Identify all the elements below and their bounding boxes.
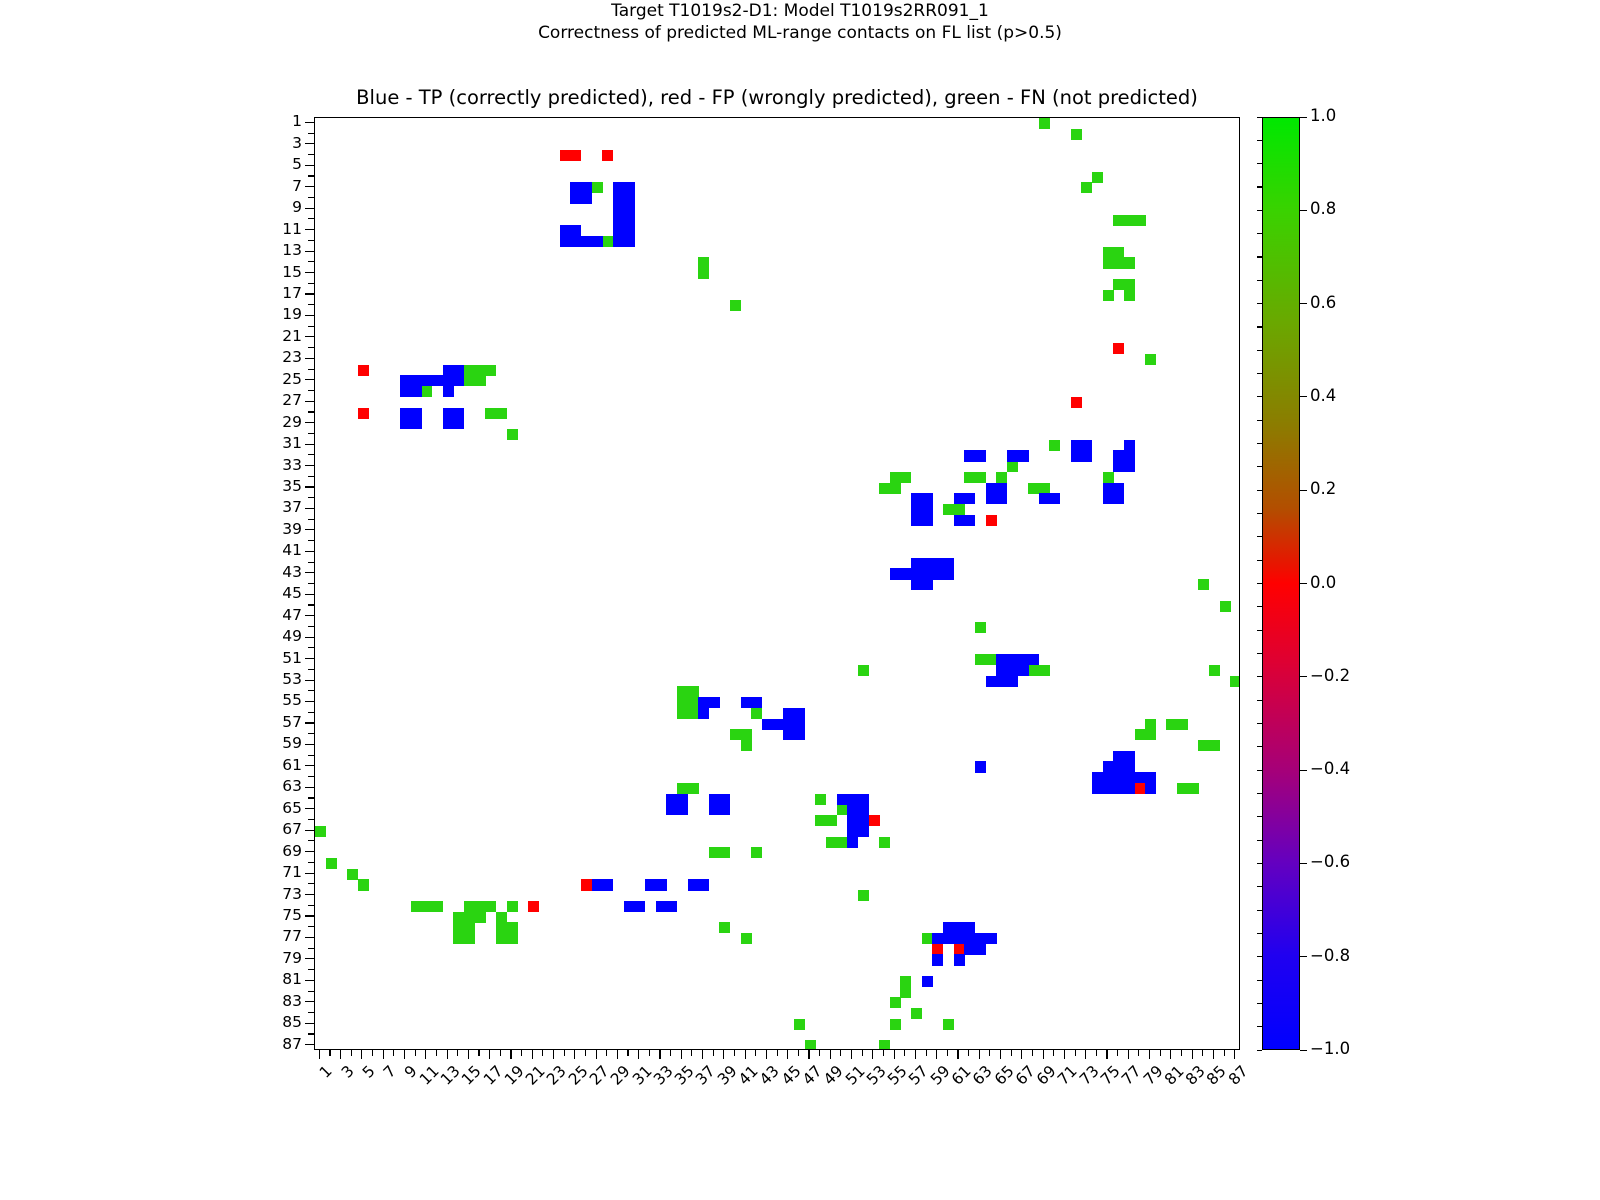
x-tick-label: 71 xyxy=(1054,1062,1081,1089)
contact-cell-tp xyxy=(677,804,688,815)
contact-cell-tp xyxy=(847,815,858,826)
contact-cell-tp xyxy=(453,408,464,419)
y-tick-mark xyxy=(305,315,314,316)
contact-cell-fn xyxy=(1166,719,1177,730)
contact-cell-tp xyxy=(624,901,635,912)
contact-cell-tp xyxy=(858,815,869,826)
contact-cell-fn xyxy=(922,933,933,944)
contact-cell-fn xyxy=(1188,783,1199,794)
x-tick-mark xyxy=(393,1050,394,1056)
x-tick-mark xyxy=(617,1050,618,1059)
contact-cell-fn xyxy=(975,622,986,633)
x-tick-mark xyxy=(670,1050,671,1056)
contact-cell-tp xyxy=(1124,761,1135,772)
contact-cell-tp xyxy=(932,954,943,965)
contact-cell-fn xyxy=(1103,472,1114,483)
y-tick-mark xyxy=(305,915,314,916)
contact-cell-fn xyxy=(315,826,326,837)
contact-cell-tp xyxy=(1113,450,1124,461)
contact-cell-tp xyxy=(613,204,624,215)
x-tick-label: 31 xyxy=(629,1062,656,1089)
y-tick-label: 69 xyxy=(234,842,302,860)
y-tick-mark xyxy=(305,701,314,702)
x-tick-label: 1 xyxy=(316,1062,336,1082)
contact-cell-tp xyxy=(400,386,411,397)
contact-cell-tp xyxy=(1007,450,1018,461)
y-tick-label: 3 xyxy=(234,134,302,152)
y-tick-mark xyxy=(305,186,314,187)
contact-cell-tp xyxy=(922,504,933,515)
contact-cell-tp xyxy=(613,236,624,247)
colorbar-minor-tick xyxy=(1257,583,1262,584)
x-tick-mark xyxy=(436,1050,437,1056)
contact-cell-fn xyxy=(1049,440,1060,451)
colorbar-minor-tick xyxy=(1257,816,1262,817)
contact-cell-tp xyxy=(911,558,922,569)
suptitle-line-1: Target T1019s2-D1: Model T1019s2RR091_1 xyxy=(0,0,1600,22)
y-tick-label: 75 xyxy=(234,906,302,924)
contact-cell-tp xyxy=(1124,461,1135,472)
colorbar-minor-tick xyxy=(1257,210,1262,211)
y-tick-mark xyxy=(305,336,314,337)
contact-cell-tp xyxy=(1113,772,1124,783)
y-tick-label: 17 xyxy=(234,284,302,302)
contact-cell-tp xyxy=(773,719,784,730)
contact-cell-fn xyxy=(475,912,486,923)
contact-cell-fn xyxy=(464,912,475,923)
contact-cell-fn xyxy=(1113,279,1124,290)
x-tick-mark xyxy=(489,1050,490,1059)
x-tick-label: 73 xyxy=(1076,1062,1103,1089)
colorbar-tick-mark xyxy=(1300,117,1307,118)
y-tick-mark xyxy=(305,401,314,402)
colorbar-tick-mark xyxy=(1300,303,1307,304)
x-tick-mark xyxy=(585,1050,586,1056)
y-tick-mark xyxy=(305,1023,314,1024)
contact-cell-fn xyxy=(879,1040,890,1050)
contact-cell-fn xyxy=(507,429,518,440)
contact-cell-tp xyxy=(911,504,922,515)
contact-cell-fn xyxy=(677,697,688,708)
x-tick-mark xyxy=(840,1050,841,1056)
contact-cell-tp xyxy=(666,804,677,815)
contact-cell-fn xyxy=(453,912,464,923)
contact-cell-fp xyxy=(602,150,613,161)
contact-cell-tp xyxy=(975,944,986,955)
colorbar-minor-tick xyxy=(1257,770,1262,771)
contact-cell-tp xyxy=(954,515,965,526)
contact-cell-fn xyxy=(1092,172,1103,183)
y-tick-label: 63 xyxy=(234,777,302,795)
contact-cell-tp xyxy=(986,483,997,494)
x-tick-mark xyxy=(979,1050,980,1059)
contact-cell-tp xyxy=(986,933,997,944)
contact-cell-tp xyxy=(592,879,603,890)
contact-cell-tp xyxy=(1028,654,1039,665)
contact-cell-tp xyxy=(847,837,858,848)
colorbar-tick-mark xyxy=(1300,956,1307,957)
contact-cell-fn xyxy=(421,386,432,397)
colorbar-minor-tick xyxy=(1257,490,1262,491)
y-tick-mark xyxy=(305,572,314,573)
contact-cell-fn xyxy=(730,729,741,740)
contact-cell-tp xyxy=(613,215,624,226)
figure-suptitle: Target T1019s2-D1: Model T1019s2RR091_1 … xyxy=(0,0,1600,44)
x-tick-label: 81 xyxy=(1161,1062,1188,1089)
colorbar-minor-tick xyxy=(1257,793,1262,794)
contact-cell-tp xyxy=(1113,493,1124,504)
x-tick-mark xyxy=(574,1050,575,1059)
contact-cell-tp xyxy=(432,375,443,386)
contact-cell-tp xyxy=(794,719,805,730)
x-tick-mark xyxy=(713,1050,714,1056)
contact-cell-tp xyxy=(922,579,933,590)
contact-cell-tp xyxy=(783,719,794,730)
x-tick-mark xyxy=(947,1050,948,1056)
x-tick-label: 37 xyxy=(693,1062,720,1089)
colorbar-minor-tick xyxy=(1257,840,1262,841)
contact-cell-fn xyxy=(815,794,826,805)
x-tick-mark xyxy=(798,1050,799,1056)
contact-cell-tp xyxy=(996,665,1007,676)
colorbar-minor-tick xyxy=(1257,443,1262,444)
x-tick-mark xyxy=(478,1050,479,1056)
contact-cell-fp xyxy=(528,901,539,912)
contact-cell-tp xyxy=(1007,654,1018,665)
contact-cell-fn xyxy=(879,837,890,848)
y-tick-mark xyxy=(305,444,314,445)
colorbar-tick-label: 0.8 xyxy=(1310,199,1336,218)
y-tick-label: 65 xyxy=(234,799,302,817)
x-tick-label: 75 xyxy=(1097,1062,1124,1089)
contact-cell-tp xyxy=(943,922,954,933)
contact-cell-tp xyxy=(1113,783,1124,794)
contact-cell-tp xyxy=(911,515,922,526)
contact-cell-tp xyxy=(1113,461,1124,472)
contact-cell-fn xyxy=(900,976,911,987)
y-tick-label: 31 xyxy=(234,434,302,452)
colorbar-minor-tick xyxy=(1257,513,1262,514)
colorbar-minor-tick xyxy=(1257,466,1262,467)
contact-cell-fn xyxy=(1113,215,1124,226)
contact-cell-fn xyxy=(475,901,486,912)
contact-cell-tp xyxy=(1103,772,1114,783)
contact-cell-tp xyxy=(751,697,762,708)
contact-map-plot[interactable] xyxy=(314,117,1240,1050)
x-tick-mark xyxy=(1085,1050,1086,1059)
x-tick-mark xyxy=(1096,1050,1097,1056)
contact-cell-fn xyxy=(496,408,507,419)
contact-cell-fn xyxy=(1113,257,1124,268)
contact-cell-fp xyxy=(986,515,997,526)
contact-cell-tp xyxy=(1103,493,1114,504)
contact-cell-tp xyxy=(741,697,752,708)
x-tick-label: 17 xyxy=(480,1062,507,1089)
contact-cell-tp xyxy=(624,182,635,193)
colorbar-minor-tick xyxy=(1257,723,1262,724)
y-tick-mark xyxy=(305,508,314,509)
colorbar-minor-tick xyxy=(1257,186,1262,187)
y-tick-label: 37 xyxy=(234,498,302,516)
x-tick-mark xyxy=(1170,1050,1171,1059)
y-tick-label: 25 xyxy=(234,370,302,388)
contact-cell-tp xyxy=(1017,665,1028,676)
contact-cell-tp xyxy=(932,568,943,579)
x-tick-mark xyxy=(968,1050,969,1056)
x-tick-label: 49 xyxy=(820,1062,847,1089)
contact-cell-fn xyxy=(1177,719,1188,730)
colorbar-tick-mark xyxy=(1300,770,1307,771)
colorbar-minor-tick xyxy=(1257,560,1262,561)
contact-cell-fn xyxy=(507,933,518,944)
x-tick-mark xyxy=(659,1050,660,1059)
y-tick-label: 19 xyxy=(234,305,302,323)
contact-cell-tp xyxy=(570,182,581,193)
x-tick-mark xyxy=(1106,1050,1107,1059)
contact-cell-tp xyxy=(900,568,911,579)
contact-cell-fn xyxy=(688,783,699,794)
colorbar-minor-tick xyxy=(1257,373,1262,374)
contact-cell-fn xyxy=(421,901,432,912)
y-tick-label: 51 xyxy=(234,649,302,667)
contact-cell-tp xyxy=(411,375,422,386)
y-tick-mark xyxy=(305,594,314,595)
contact-cell-fn xyxy=(688,708,699,719)
x-tick-label: 13 xyxy=(437,1062,464,1089)
x-tick-label: 53 xyxy=(863,1062,890,1089)
contact-cell-fn xyxy=(1230,676,1240,687)
contact-cell-fn xyxy=(507,922,518,933)
colorbar-minor-tick xyxy=(1257,746,1262,747)
x-tick-label: 83 xyxy=(1182,1062,1209,1089)
contact-cell-tp xyxy=(602,879,613,890)
contact-cell-fn xyxy=(464,901,475,912)
contact-cell-tp xyxy=(975,450,986,461)
contact-cell-tp xyxy=(975,933,986,944)
y-tick-mark xyxy=(305,873,314,874)
contact-cell-tp xyxy=(1081,450,1092,461)
colorbar[interactable] xyxy=(1262,117,1300,1050)
y-tick-label: 21 xyxy=(234,327,302,345)
colorbar-minor-tick xyxy=(1257,1050,1262,1051)
y-tick-mark xyxy=(305,1044,314,1045)
y-tick-mark xyxy=(305,165,314,166)
y-tick-mark xyxy=(305,358,314,359)
contact-cell-tp xyxy=(624,225,635,236)
colorbar-tick-label: −0.6 xyxy=(1310,852,1350,871)
y-tick-label: 81 xyxy=(234,970,302,988)
contact-cell-tp xyxy=(1145,783,1156,794)
axes-title-legend: Blue - TP (correctly predicted), red - F… xyxy=(314,86,1240,109)
y-tick-mark xyxy=(305,551,314,552)
contact-cell-fn xyxy=(805,1040,816,1050)
x-tick-label: 3 xyxy=(338,1062,358,1082)
contact-cell-tp xyxy=(698,708,709,719)
colorbar-minor-tick xyxy=(1257,396,1262,397)
colorbar-minor-tick xyxy=(1257,140,1262,141)
contact-cell-fn xyxy=(485,408,496,419)
colorbar-minor-tick xyxy=(1257,910,1262,911)
y-tick-label: 71 xyxy=(234,863,302,881)
x-tick-mark xyxy=(425,1050,426,1059)
contact-cell-fp xyxy=(868,815,879,826)
colorbar-tick-label: 0.0 xyxy=(1310,573,1336,592)
x-tick-mark xyxy=(989,1050,990,1056)
y-tick-label: 85 xyxy=(234,1013,302,1031)
x-tick-label: 15 xyxy=(458,1062,485,1089)
x-tick-mark xyxy=(872,1050,873,1059)
contact-cell-tp xyxy=(1103,483,1114,494)
contact-cell-tp xyxy=(400,375,411,386)
y-tick-label: 23 xyxy=(234,348,302,366)
colorbar-tick-label: −1.0 xyxy=(1310,1039,1350,1058)
contact-cell-fn xyxy=(1177,783,1188,794)
contact-cell-tp xyxy=(400,408,411,419)
y-tick-label: 5 xyxy=(234,155,302,173)
contact-cell-fn xyxy=(453,922,464,933)
contact-cell-fn xyxy=(1220,601,1231,612)
y-tick-label: 35 xyxy=(234,477,302,495)
y-tick-label: 55 xyxy=(234,691,302,709)
contact-cell-tp xyxy=(890,568,901,579)
contact-cell-fn xyxy=(347,869,358,880)
colorbar-minor-tick xyxy=(1257,117,1262,118)
contact-cell-fn xyxy=(475,375,486,386)
contact-cell-fn xyxy=(890,1019,901,1030)
contact-cell-tp xyxy=(613,182,624,193)
contact-cell-tp xyxy=(964,944,975,955)
contact-cell-tp xyxy=(922,515,933,526)
contact-cell-tp xyxy=(954,493,965,504)
contact-cell-tp xyxy=(1145,772,1156,783)
y-tick-label: 13 xyxy=(234,241,302,259)
y-tick-mark xyxy=(305,208,314,209)
contact-cell-tp xyxy=(1103,783,1114,794)
contact-cell-fn xyxy=(1135,215,1146,226)
x-tick-mark xyxy=(1213,1050,1214,1059)
contact-cell-fp xyxy=(581,879,592,890)
y-tick-label: 59 xyxy=(234,734,302,752)
contact-cell-tp xyxy=(634,901,645,912)
contact-cell-fp xyxy=(932,944,943,955)
y-tick-label: 73 xyxy=(234,885,302,903)
contact-cell-fn xyxy=(815,815,826,826)
x-tick-label: 25 xyxy=(565,1062,592,1089)
x-tick-label: 61 xyxy=(948,1062,975,1089)
contact-cell-tp xyxy=(975,761,986,772)
x-tick-label: 33 xyxy=(650,1062,677,1089)
x-tick-label: 43 xyxy=(756,1062,783,1089)
contact-cell-fn xyxy=(1039,118,1050,129)
contact-cell-tp xyxy=(794,729,805,740)
contact-cell-tp xyxy=(1113,761,1124,772)
x-tick-mark xyxy=(1192,1050,1193,1059)
contact-cell-tp xyxy=(943,933,954,944)
contact-cell-tp xyxy=(411,408,422,419)
y-tick-label: 77 xyxy=(234,927,302,945)
y-tick-mark xyxy=(305,465,314,466)
x-tick-mark xyxy=(361,1050,362,1059)
x-tick-mark xyxy=(1011,1050,1012,1056)
contact-cell-tp xyxy=(581,182,592,193)
contact-cell-tp xyxy=(911,493,922,504)
contact-cell-tp xyxy=(932,933,943,944)
x-tick-mark xyxy=(723,1050,724,1059)
colorbar-tick-label: 1.0 xyxy=(1310,106,1336,125)
x-tick-label: 35 xyxy=(671,1062,698,1089)
contact-cell-tp xyxy=(570,225,581,236)
contact-cell-tp xyxy=(1124,450,1135,461)
contact-cell-tp xyxy=(560,225,571,236)
contact-cell-fn xyxy=(741,933,752,944)
contact-cell-tp xyxy=(581,193,592,204)
contact-cell-fn xyxy=(996,472,1007,483)
contact-cell-fn xyxy=(900,987,911,998)
x-tick-label: 45 xyxy=(778,1062,805,1089)
contact-cell-tp xyxy=(964,515,975,526)
contact-cell-tp xyxy=(688,879,699,890)
x-tick-label: 57 xyxy=(905,1062,932,1089)
contact-cell-tp xyxy=(1007,665,1018,676)
y-tick-mark xyxy=(305,229,314,230)
contact-cell-fn xyxy=(1124,290,1135,301)
contact-cell-tp xyxy=(932,558,943,569)
contact-cell-tp xyxy=(719,804,730,815)
contact-cell-tp xyxy=(1113,483,1124,494)
contact-cell-fn xyxy=(698,257,709,268)
figure-canvas: Target T1019s2-D1: Model T1019s2RR091_1 … xyxy=(0,0,1600,1200)
contact-cell-fn xyxy=(943,1019,954,1030)
contact-cell-tp xyxy=(1017,450,1028,461)
y-tick-mark xyxy=(305,765,314,766)
contact-cell-tp xyxy=(847,826,858,837)
contact-cell-fn xyxy=(677,783,688,794)
y-tick-mark xyxy=(305,937,314,938)
contact-cell-tp xyxy=(922,558,933,569)
x-tick-mark xyxy=(1064,1050,1065,1059)
y-tick-mark xyxy=(305,851,314,852)
contact-cell-fn xyxy=(975,654,986,665)
contact-cell-tp xyxy=(560,236,571,247)
colorbar-minor-tick xyxy=(1257,536,1262,537)
contact-cell-fn xyxy=(709,847,720,858)
y-tick-label: 67 xyxy=(234,820,302,838)
x-tick-mark xyxy=(894,1050,895,1059)
contact-cell-tp xyxy=(922,976,933,987)
contact-cell-tp xyxy=(954,922,965,933)
contact-cell-tp xyxy=(1007,676,1018,687)
y-tick-label: 7 xyxy=(234,177,302,195)
suptitle-line-2: Correctness of predicted ML-range contac… xyxy=(0,22,1600,44)
x-tick-mark xyxy=(638,1050,639,1059)
x-tick-label: 9 xyxy=(401,1062,421,1082)
x-tick-mark xyxy=(755,1050,756,1056)
x-tick-label: 23 xyxy=(544,1062,571,1089)
contact-cell-tp xyxy=(624,236,635,247)
contact-cell-fn xyxy=(900,472,911,483)
y-tick-label: 9 xyxy=(234,198,302,216)
x-tick-label: 5 xyxy=(359,1062,379,1082)
contact-cell-fn xyxy=(879,483,890,494)
colorbar-minor-tick xyxy=(1257,956,1262,957)
contact-cell-tp xyxy=(1092,772,1103,783)
colorbar-tick-label: −0.4 xyxy=(1310,759,1350,778)
contact-cell-tp xyxy=(624,215,635,226)
contact-cell-tp xyxy=(613,193,624,204)
x-tick-mark xyxy=(851,1050,852,1059)
x-tick-mark xyxy=(830,1050,831,1059)
x-tick-mark xyxy=(734,1050,735,1056)
